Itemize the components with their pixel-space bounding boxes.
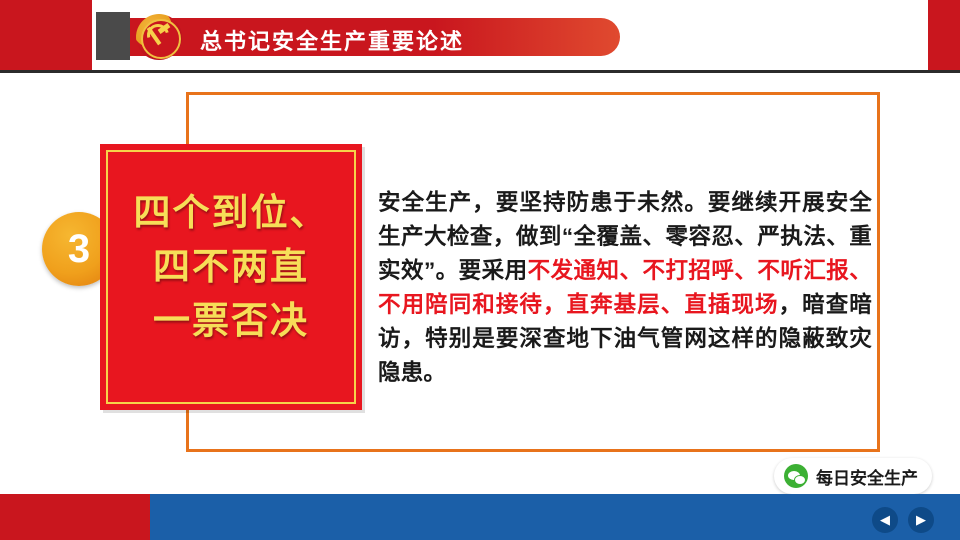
header-underline <box>0 70 960 73</box>
header-red-left-block <box>0 0 92 70</box>
prev-arrow-icon[interactable]: ◀ <box>872 507 898 533</box>
body-paragraph: 安全生产，要坚持防患于未然。要继续开展安全生产大检查，做到“全覆盖、零容忍、严执… <box>378 186 872 390</box>
party-emblem-icon <box>134 12 186 62</box>
next-arrow-icon[interactable]: ▶ <box>908 507 934 533</box>
footer-bar: ◀ ▶ <box>0 494 960 540</box>
title-box: 四个到位、 四不两直 一票否决 <box>100 144 362 410</box>
header-gray-block <box>96 12 130 60</box>
header-band: 总书记安全生产重要论述 <box>0 0 960 70</box>
footer-red-block <box>0 494 150 540</box>
header-red-right-block <box>928 0 960 70</box>
title-line-2: 四不两直 <box>100 240 362 294</box>
nav-arrows[interactable]: ◀ ▶ <box>872 507 934 533</box>
wechat-badge[interactable]: 每日安全生产 <box>774 458 932 494</box>
title-box-text: 四个到位、 四不两直 一票否决 <box>100 186 362 348</box>
wechat-account-label: 每日安全生产 <box>816 464 918 489</box>
title-line-1: 四个到位、 <box>100 186 362 240</box>
slide: 总书记安全生产重要论述 3 四个到位、 四不两直 一票否决 安全生产，要坚持防患… <box>0 0 960 540</box>
paragraph-segment-2: 。要采用 <box>435 258 527 283</box>
title-line-3: 一票否决 <box>100 294 362 348</box>
wechat-icon <box>784 464 808 488</box>
header-title: 总书记安全生产重要论述 <box>200 24 464 56</box>
